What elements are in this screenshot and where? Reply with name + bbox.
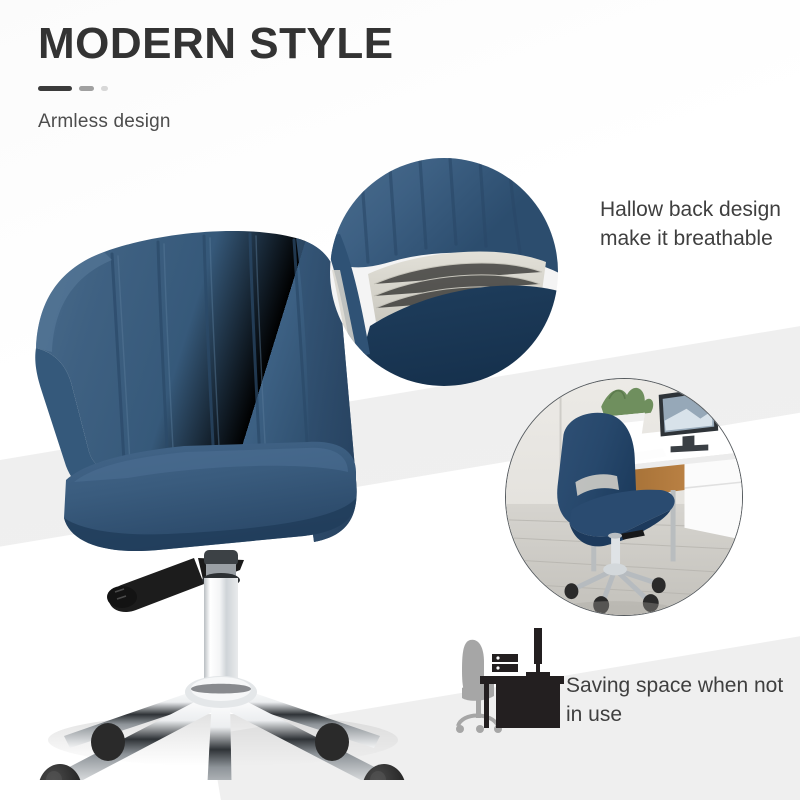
page-title: MODERN STYLE [38,22,394,66]
dash-tertiary [101,86,108,91]
page-subtitle: Armless design [38,111,394,133]
inset-lifestyle-desk [505,378,743,616]
dash-primary [38,86,72,91]
header-block: MODERN STYLE Armless design [38,22,394,133]
callout-saving-space: Saving space when not in use [566,672,796,730]
inset-hollow-back-detail [330,158,558,386]
desk-with-chair-icon [452,626,570,738]
callout-hallow-back: Hallow back design make it breathable [600,196,790,254]
decorative-dashes [38,86,394,91]
dash-secondary [79,86,94,91]
product-infographic: MODERN STYLE Armless design [0,0,800,800]
